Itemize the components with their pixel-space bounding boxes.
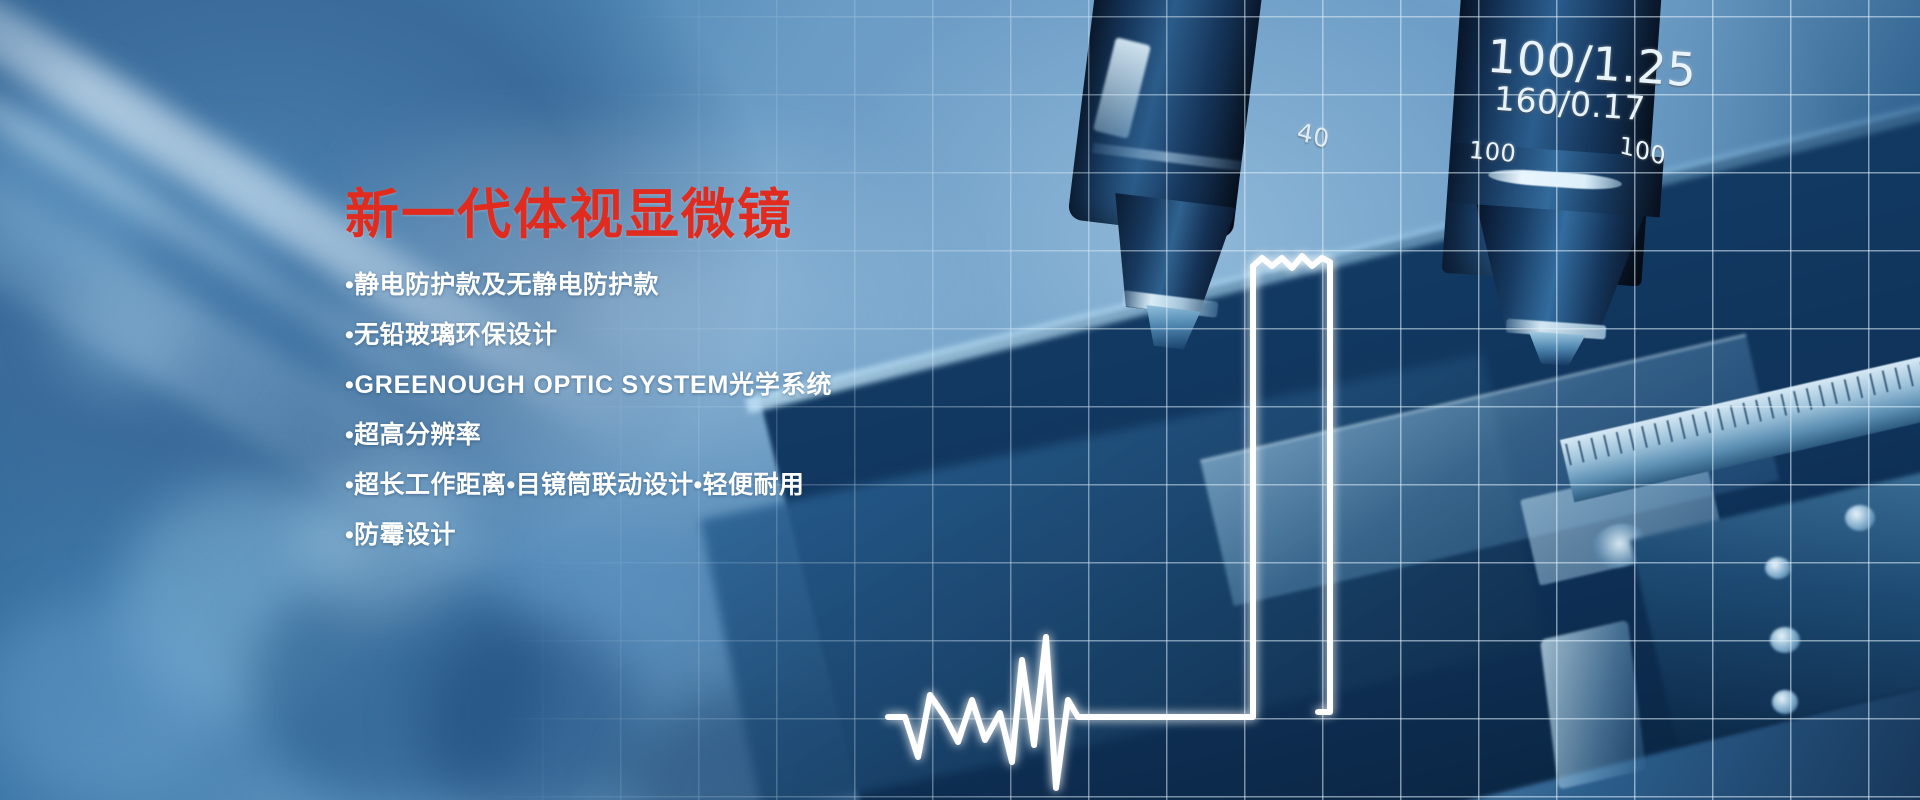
- list-item: •无铅玻璃环保设计: [345, 323, 1105, 348]
- list-item: •防霉设计: [345, 523, 1105, 548]
- hero-banner: 40 100/1.25 160/0.17 100 100 新一代体视显微镜 •静…: [0, 0, 1920, 800]
- list-item: •GREENOUGH OPTIC SYSTEM光学系统: [345, 373, 1105, 398]
- list-item: •超长工作距离•目镜筒联动设计•轻便耐用: [345, 473, 1105, 498]
- page-title: 新一代体视显微镜: [345, 186, 1105, 245]
- list-item: •静电防护款及无静电防护款: [345, 273, 1105, 298]
- copy-block: 新一代体视显微镜 •静电防护款及无静电防护款 •无铅玻璃环保设计 •GREENO…: [345, 186, 1105, 573]
- list-item: •超高分辨率: [345, 423, 1105, 448]
- feature-list: •静电防护款及无静电防护款 •无铅玻璃环保设计 •GREENOUGH OPTIC…: [345, 273, 1105, 548]
